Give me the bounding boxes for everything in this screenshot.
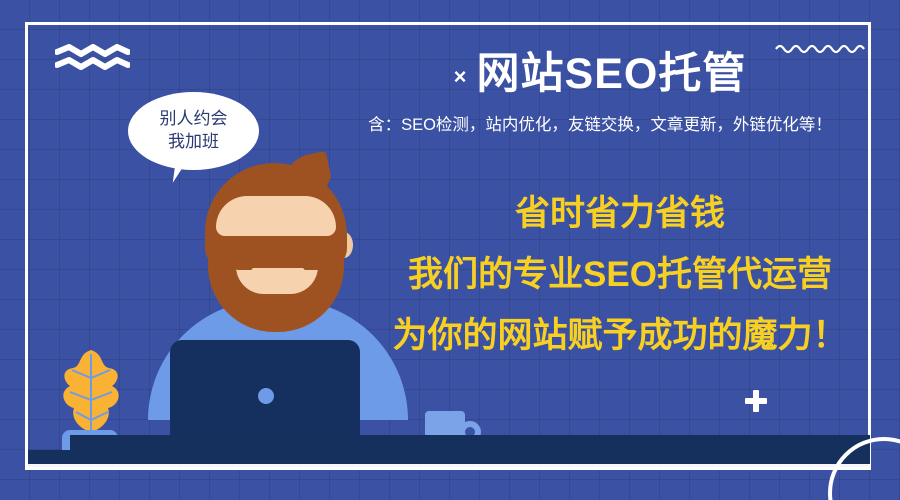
plus-icon <box>745 390 767 412</box>
close-icon: × <box>454 66 467 88</box>
speech-bubble-line-2: 我加班 <box>168 131 219 154</box>
page-subtitle: 含：SEO检测，站内优化，友链交换，文章更新，外链优化等！ <box>320 116 880 136</box>
speech-bubble: 别人约会 我加班 <box>128 92 259 170</box>
desk-edge <box>28 450 870 464</box>
desk-highlight-line <box>28 464 870 468</box>
slogan-line-1: 省时省力省钱 <box>360 196 880 231</box>
plant-leaves-icon <box>52 348 130 436</box>
wave-lines-icon <box>55 44 130 70</box>
slogan-line-3: 为你的网站赋予成功的魔力！ <box>360 318 880 353</box>
character-mouth <box>250 266 306 283</box>
seo-poster: × 网站SEO托管 含：SEO检测，站内优化，友链交换，文章更新，外链优化等！ … <box>0 0 900 500</box>
character-forehead <box>216 196 336 236</box>
laptop-logo-icon <box>258 388 274 404</box>
headline-row: × 网站SEO托管 <box>330 46 870 102</box>
speech-bubble-line-1: 别人约会 <box>160 108 228 131</box>
page-title: 网站SEO托管 <box>477 53 747 96</box>
slogan-block: 省时省力省钱 我们的专业SEO托管代运营 为你的网站赋予成功的魔力！ <box>360 196 880 353</box>
slogan-line-2: 我们的专业SEO托管代运营 <box>360 257 880 292</box>
